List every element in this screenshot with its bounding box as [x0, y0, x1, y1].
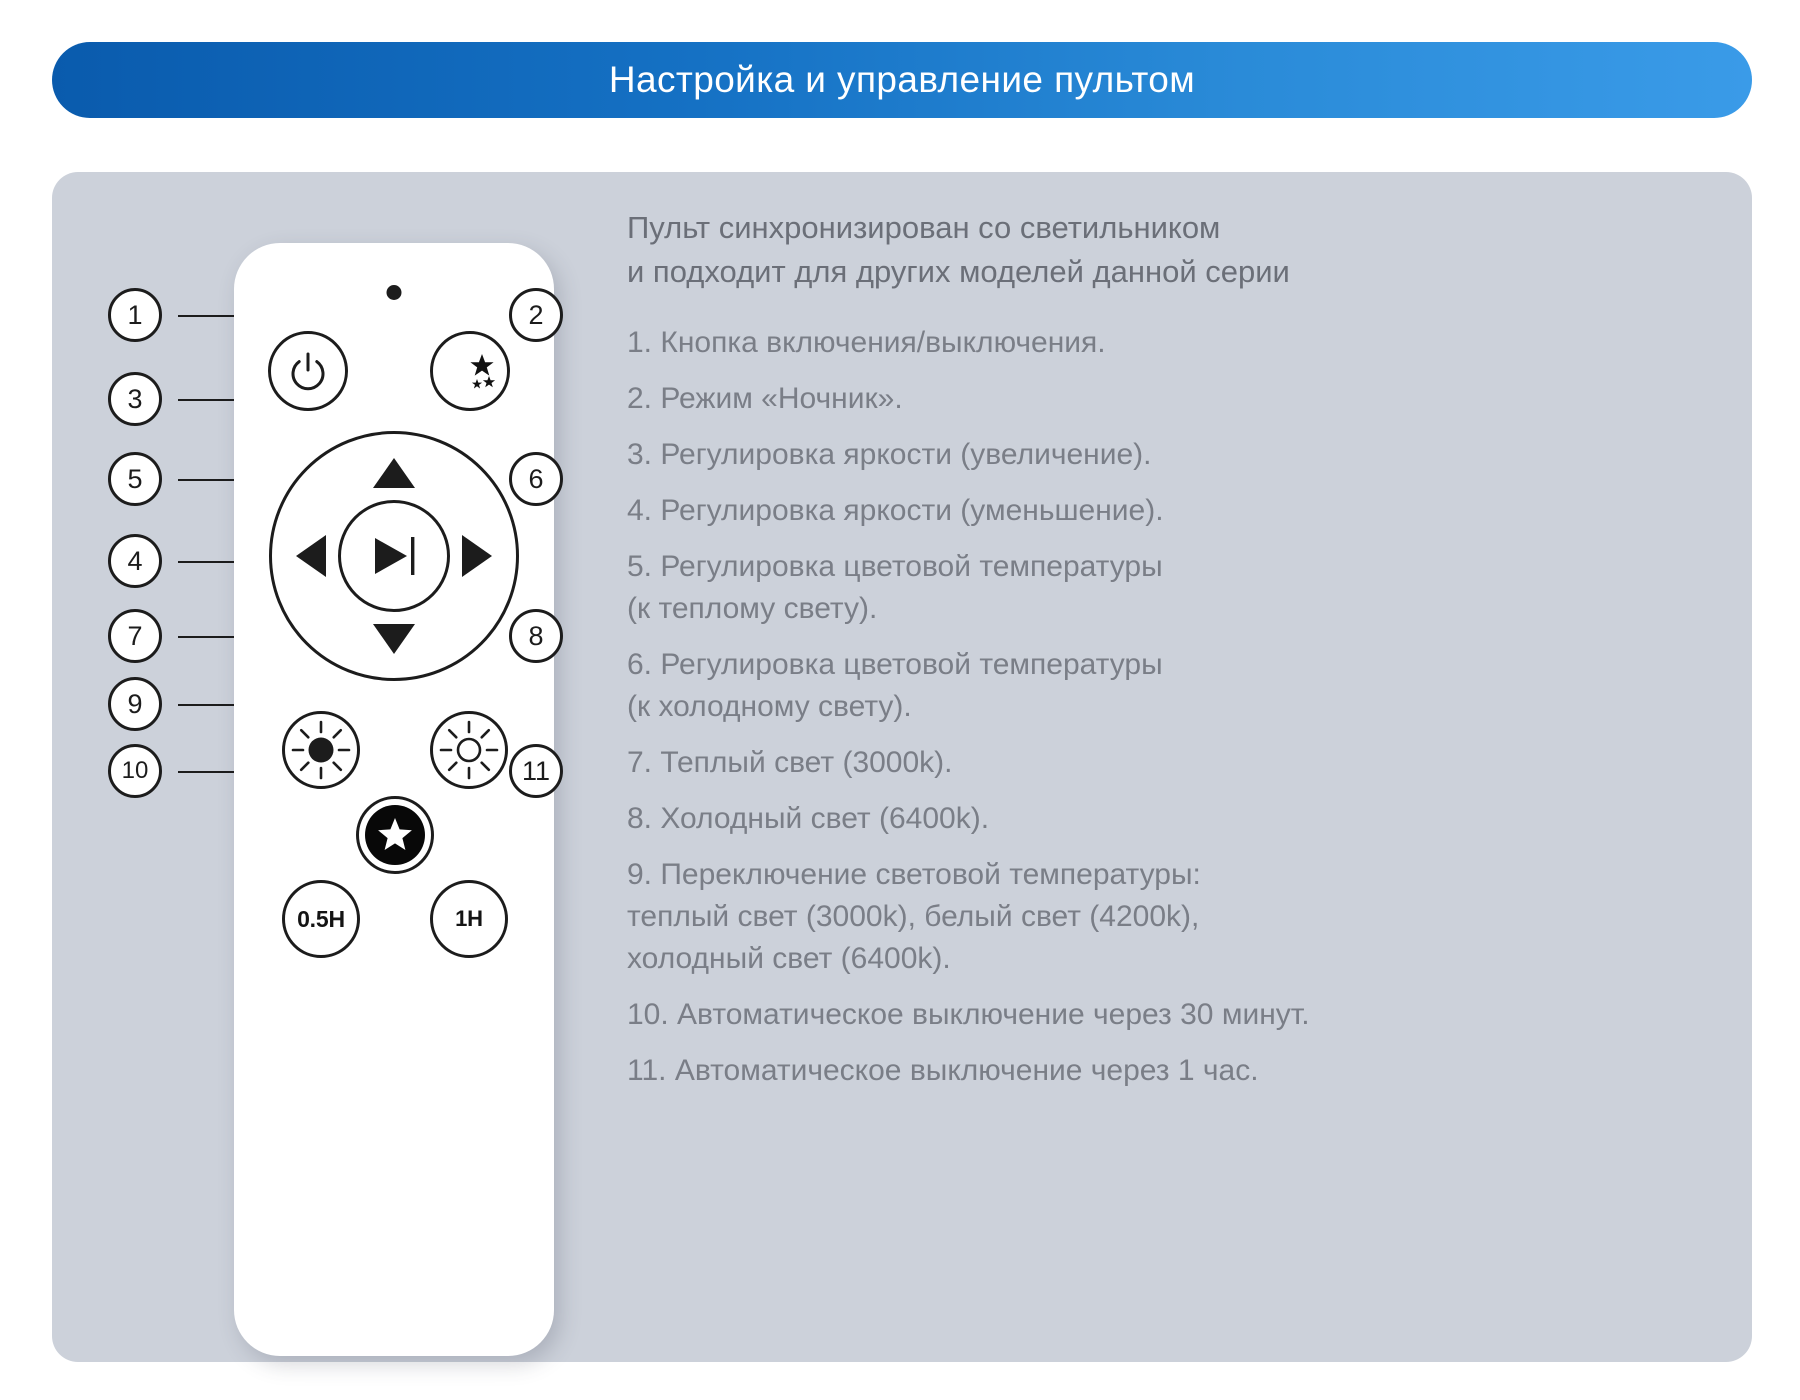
callout-6: 6	[509, 452, 563, 506]
power-icon	[286, 349, 330, 393]
cct-warm-button[interactable]	[296, 535, 326, 577]
callout-11: 11	[509, 744, 563, 798]
intro-line-1: Пульт синхронизирован со светильником	[627, 206, 1637, 250]
callout-6-number: 6	[528, 466, 543, 493]
list-item: 4. Регулировка яркости (уменьшение).	[627, 490, 1637, 532]
callout-4-number: 4	[127, 548, 142, 575]
callout-1: 1	[108, 288, 162, 342]
callout-3: 3	[108, 372, 162, 426]
list-item: 10. Автоматическое выключение через 30 м…	[627, 994, 1637, 1036]
timer-30min-button[interactable]: 0.5H	[282, 880, 360, 958]
callout-3-number: 3	[127, 386, 142, 413]
callout-4: 4	[108, 534, 162, 588]
moon-stars-icon	[442, 346, 498, 396]
timer-1hour-button[interactable]: 1H	[430, 880, 508, 958]
list-item: 3. Регулировка яркости (увеличение).	[627, 434, 1637, 476]
callout-2-number: 2	[528, 302, 543, 329]
list-item: 5. Регулировка цветовой температуры (к т…	[627, 546, 1637, 630]
star-icon	[376, 816, 414, 854]
header-banner: Настройка и управление пультом	[52, 42, 1752, 118]
brightness-down-button[interactable]	[373, 624, 415, 654]
play-pause-button[interactable]	[338, 500, 450, 612]
page-title: Настройка и управление пультом	[609, 59, 1195, 101]
list-item: 2. Режим «Ночник».	[627, 378, 1637, 420]
infographic-page: Настройка и управление пультом	[0, 0, 1800, 1400]
callout-9-number: 9	[127, 691, 142, 718]
callout-10: 10	[108, 744, 162, 798]
callout-7: 7	[108, 609, 162, 663]
list-item: 7. Теплый свет (3000k).	[627, 742, 1637, 784]
callout-5: 5	[108, 452, 162, 506]
callout-11-number: 11	[522, 758, 550, 785]
timer-1hour-label: 1H	[455, 906, 483, 932]
ir-led-dot	[387, 285, 402, 300]
cold-light-button[interactable]	[430, 711, 508, 789]
callout-8-number: 8	[528, 623, 543, 650]
sun-filled-icon	[290, 719, 352, 781]
list-item: 1. Кнопка включения/выключения.	[627, 322, 1637, 364]
cct-cycle-button[interactable]	[356, 796, 434, 874]
callout-7-number: 7	[127, 623, 142, 650]
power-button[interactable]	[268, 331, 348, 411]
list-item: 6. Регулировка цветовой температуры (к х…	[627, 644, 1637, 728]
timer-30min-label: 0.5H	[297, 906, 345, 933]
intro-line-2: и подходит для других моделей данной сер…	[627, 250, 1637, 294]
star-disc	[365, 805, 425, 865]
list-item: 9. Переключение световой температуры: те…	[627, 854, 1637, 980]
brightness-up-button[interactable]	[373, 458, 415, 488]
list-item: 8. Холодный свет (6400k).	[627, 798, 1637, 840]
intro-paragraph: Пульт синхронизирован со светильником и …	[627, 206, 1637, 294]
callout-9: 9	[108, 677, 162, 731]
instructions-column: Пульт синхронизирован со светильником и …	[627, 206, 1637, 1106]
callout-2: 2	[509, 288, 563, 342]
callout-10-number: 10	[122, 759, 149, 783]
night-mode-button[interactable]	[430, 331, 510, 411]
dpad-ring	[269, 431, 519, 681]
play-pause-icon	[363, 533, 425, 579]
callout-8: 8	[509, 609, 563, 663]
warm-light-button[interactable]	[282, 711, 360, 789]
callout-1-number: 1	[127, 302, 142, 329]
callout-5-number: 5	[127, 466, 142, 493]
cct-cold-button[interactable]	[462, 535, 492, 577]
list-item: 11. Автоматическое выключение через 1 ча…	[627, 1050, 1637, 1092]
sun-hollow-icon	[438, 719, 500, 781]
remote-control-body: 0.5H 1H	[234, 243, 554, 1356]
